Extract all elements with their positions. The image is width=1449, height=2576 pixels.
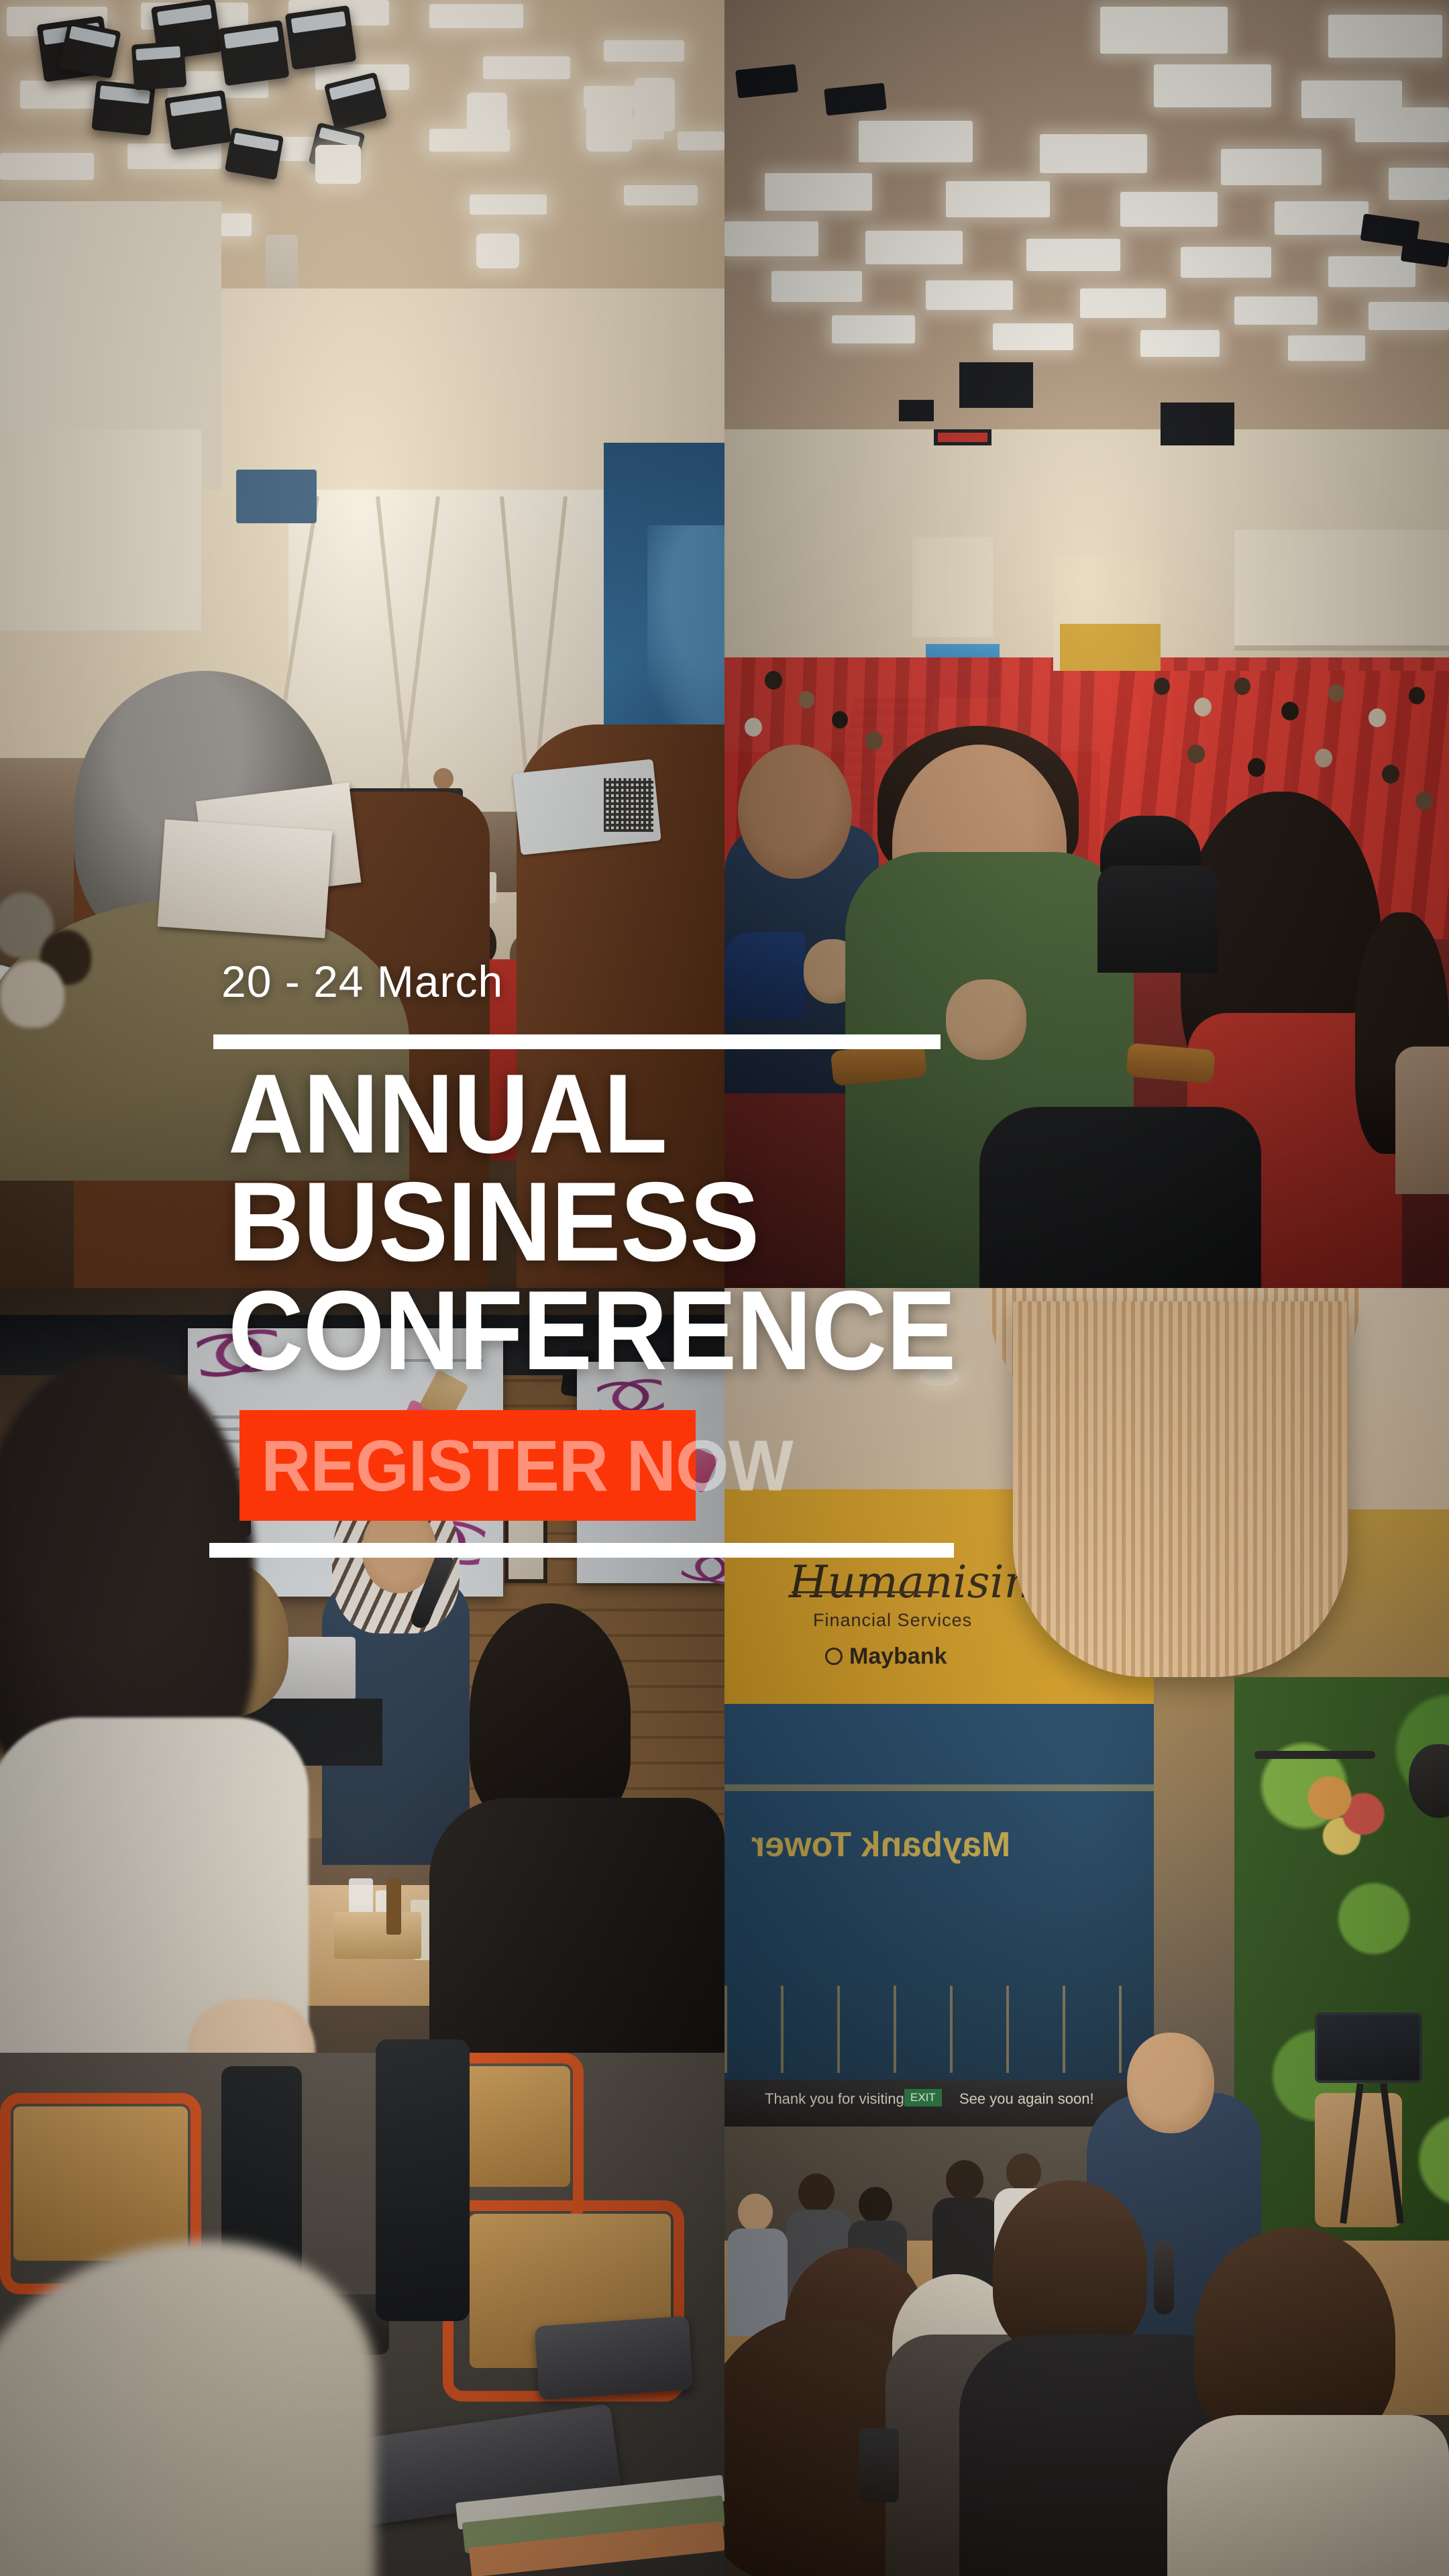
exit-sign-badge: EXIT	[904, 2089, 942, 2106]
photo-bottom-right: Humanising Financial Services Maybank Ma…	[724, 1288, 1449, 2576]
maybank-tagline-sub: Financial Services	[813, 1610, 972, 1631]
maybank-tower-sign: Maybank Tower	[751, 1825, 1010, 1865]
photo-top-left	[0, 0, 724, 1288]
exit-sign-right: See you again soon!	[959, 2090, 1094, 2108]
maybank-logo-icon	[825, 1648, 843, 1665]
conference-poster: Humanising Financial Services Maybank Ma…	[0, 0, 1449, 2576]
maybank-wordmark: Maybank	[849, 1644, 947, 1670]
photo-grid: Humanising Financial Services Maybank Ma…	[0, 0, 1449, 2576]
exit-sign-left: Thank you for visiting.	[765, 2090, 908, 2108]
photo-top-right	[724, 0, 1449, 1288]
photo-bottom-left	[0, 1288, 724, 2576]
